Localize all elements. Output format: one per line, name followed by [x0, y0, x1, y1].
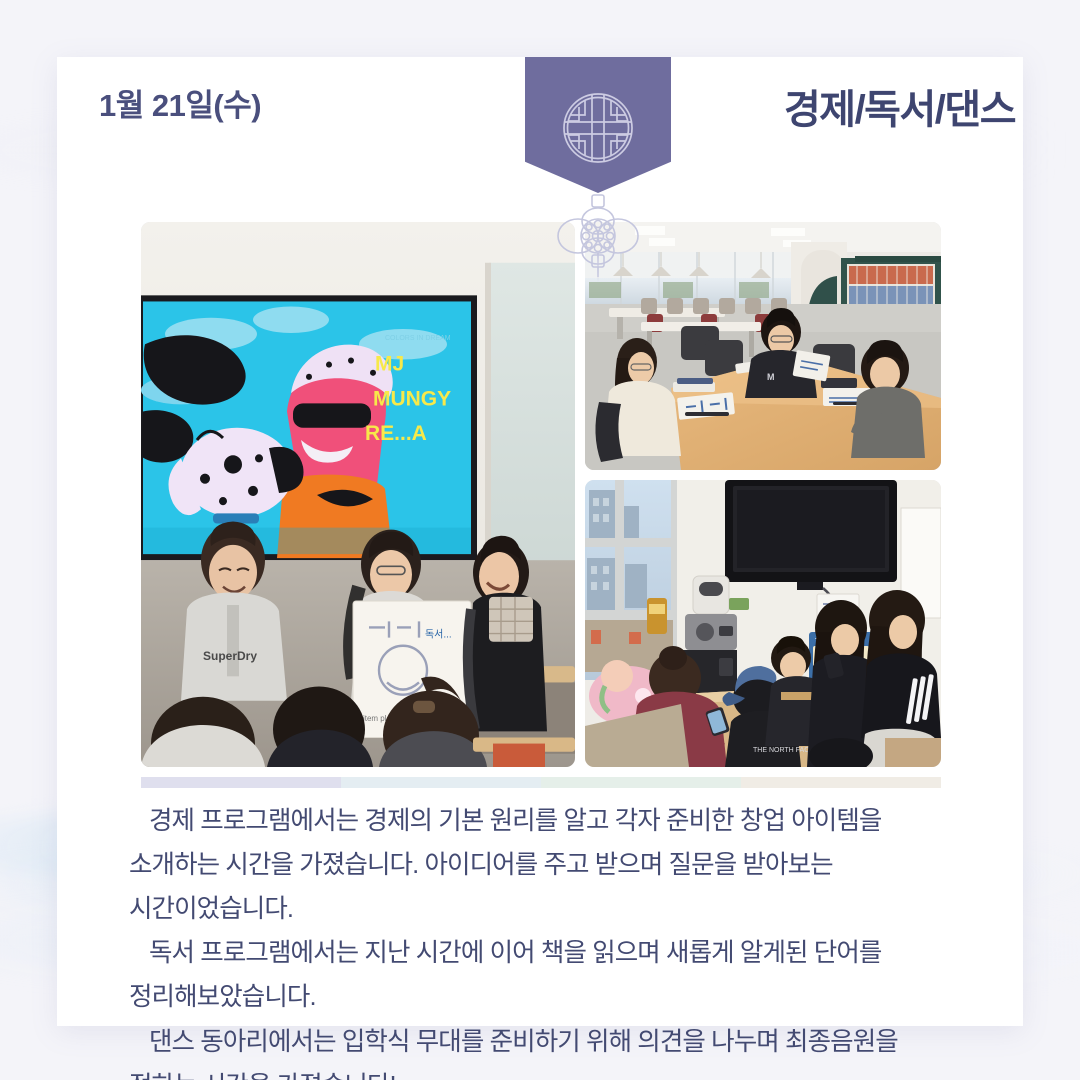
paragraph-reading: 독서 프로그램에서는 지난 시간에 이어 책을 읽으며 새롭게 알게된 단어를 … — [129, 931, 959, 1019]
photo-economy-presentation: MJ MUNGY RE...A COLORS IN DREAM — [141, 222, 575, 767]
photo-reading-library-image: M — [585, 222, 941, 470]
date-badge: 1월 21일(수) — [85, 74, 275, 133]
photo-dance-club: TIME TABLE — [585, 480, 941, 767]
svg-text:MUNGY: MUNGY — [373, 387, 451, 410]
divider-segment-2 — [341, 777, 541, 788]
top-banner — [525, 57, 671, 193]
photo-dance-club-image: TIME TABLE — [585, 480, 941, 767]
body-text: 경제 프로그램에서는 경제의 기본 원리를 알고 각자 준비한 창업 아이템을 … — [129, 799, 959, 1080]
photo-grid: MJ MUNGY RE...A COLORS IN DREAM — [141, 222, 941, 767]
page-title: 경제/독서/댄스 — [784, 77, 1015, 135]
photo-reading-library: M — [585, 222, 941, 470]
svg-text:M: M — [767, 372, 775, 382]
divider-segment-4 — [741, 777, 941, 788]
svg-text:RE...A: RE...A — [365, 422, 427, 445]
svg-text:COLORS IN DREAM: COLORS IN DREAM — [385, 335, 451, 342]
svg-text:SuperDry: SuperDry — [203, 649, 257, 663]
divider-segment-3 — [541, 777, 741, 788]
paragraph-economy: 경제 프로그램에서는 경제의 기본 원리를 알고 각자 준비한 창업 아이템을 … — [129, 799, 959, 931]
svg-text:독서...: 독서... — [425, 629, 452, 641]
section-divider — [141, 777, 941, 788]
content-card: 1월 21일(수) 경제/독서/댄스 — [57, 57, 1023, 1026]
knot-hanging-line — [597, 253, 599, 283]
divider-segment-1 — [141, 777, 341, 788]
photo-economy-presentation-image: MJ MUNGY RE...A COLORS IN DREAM — [141, 222, 575, 767]
svg-text:THE NORTH FACE: THE NORTH FACE — [753, 747, 814, 754]
paragraph-dance: 댄스 동아리에서는 입학식 무대를 준비하기 위해 의견을 나누며 최종음원을 … — [129, 1020, 959, 1080]
svg-text:MJ: MJ — [375, 353, 404, 376]
korean-sulbok-medallion-icon — [561, 91, 635, 165]
